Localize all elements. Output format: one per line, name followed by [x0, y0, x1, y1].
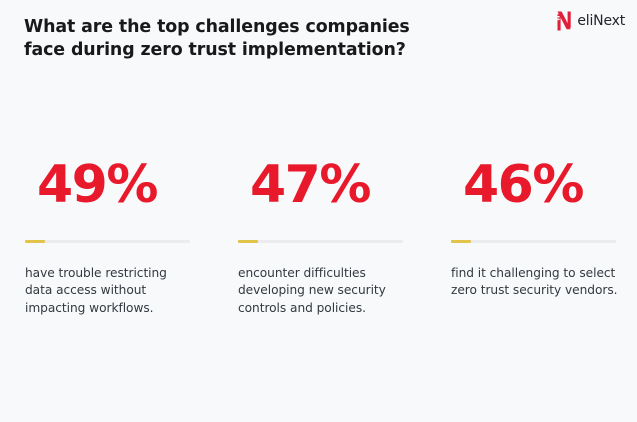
stat-card-3: 46% find it challenging to select zero t… — [426, 150, 637, 300]
infographic-page: What are the top challenges companies fa… — [0, 0, 637, 422]
brand-logo: eliNext — [557, 10, 625, 32]
page-title-line-2: face during zero trust implementation? — [24, 39, 424, 62]
brand-wordmark: eliNext — [577, 14, 625, 28]
stat-divider-accent-2 — [238, 240, 258, 243]
stat-description-1: have trouble restricting data access wit… — [25, 265, 197, 317]
stat-divider-3 — [451, 240, 616, 243]
stat-divider-2 — [238, 240, 403, 243]
stat-divider-accent-3 — [451, 240, 471, 243]
stat-value-1: 49% — [37, 150, 201, 220]
stat-divider-accent-1 — [25, 240, 45, 243]
stat-card-1: 49% have trouble restricting data access… — [0, 150, 213, 317]
statistics-row: 49% have trouble restricting data access… — [0, 150, 637, 317]
stat-card-2: 47% encounter difficulties developing ne… — [213, 150, 426, 317]
page-title-line-1: What are the top challenges companies — [24, 16, 424, 39]
page-title: What are the top challenges companies fa… — [24, 16, 424, 62]
stat-description-2: encounter difficulties developing new se… — [238, 265, 410, 317]
stat-description-3: find it challenging to select zero trust… — [451, 265, 623, 300]
header: What are the top challenges companies fa… — [0, 0, 637, 70]
stat-divider-1 — [25, 240, 190, 243]
elinext-n-mark-icon — [557, 11, 572, 31]
stat-value-2: 47% — [250, 150, 414, 220]
stat-value-3: 46% — [463, 150, 627, 220]
